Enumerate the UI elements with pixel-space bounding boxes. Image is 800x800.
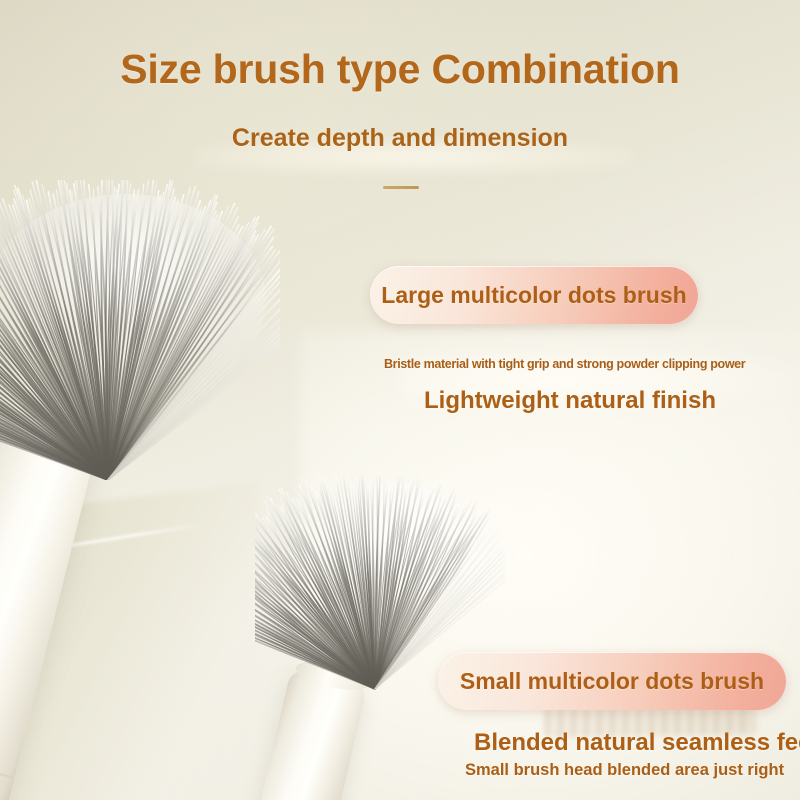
- page-subtitle: Create depth and dimension: [0, 124, 800, 153]
- caption-small-brush-head-blended: Small brush head blended area just right: [465, 761, 784, 780]
- badge-large-brush[interactable]: Large multicolor dots brush: [370, 266, 698, 324]
- caption-blended-natural-seamless-feel: Blended natural seamless feel: [474, 729, 800, 757]
- caption-lightweight-natural-finish: Lightweight natural finish: [424, 387, 716, 415]
- badge-small-brush[interactable]: Small multicolor dots brush: [438, 652, 786, 710]
- badge-small-brush-label: Small multicolor dots brush: [460, 668, 764, 695]
- caption-bristle-material: Bristle material with tight grip and str…: [384, 357, 745, 371]
- product-poster: Size brush type Combination Create depth…: [0, 0, 800, 800]
- title-divider: [383, 186, 419, 189]
- large-brush-bristles: [0, 180, 280, 480]
- badge-large-brush-label: Large multicolor dots brush: [381, 282, 686, 309]
- page-title: Size brush type Combination: [0, 46, 800, 93]
